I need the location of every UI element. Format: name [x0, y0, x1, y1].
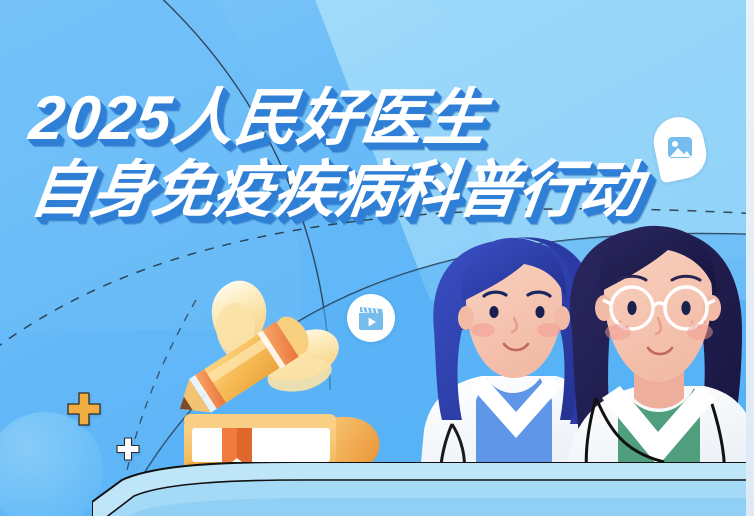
plus-icon-orange — [62, 390, 106, 434]
poster-title: 2025人民好医生 自身免疫疾病科普行动 — [30, 88, 690, 222]
poster-canvas: 2025人民好医生 自身免疫疾病科普行动 — [0, 0, 754, 516]
book-icon — [184, 414, 380, 474]
video-clapperboard-icon[interactable] — [347, 294, 395, 342]
glasses-icon — [603, 287, 715, 329]
clipboard-icon — [622, 465, 740, 516]
stethoscope-icon-right — [586, 398, 724, 516]
pencil-icon — [168, 311, 315, 427]
doctor-right — [560, 226, 754, 516]
right-edge-strip — [746, 0, 754, 516]
doctor-left — [416, 237, 610, 516]
image-photo-icon[interactable] — [649, 112, 711, 183]
title-line-1: 2025人民好医生 — [26, 88, 694, 150]
hand-shape — [192, 442, 328, 502]
stethoscope-icon — [440, 424, 452, 516]
plus-icon-white — [113, 436, 143, 466]
wing-shapes — [212, 281, 339, 392]
title-line-2: 自身免疫疾病科普行动 — [26, 160, 694, 222]
bottom-banner-panel — [92, 462, 754, 516]
